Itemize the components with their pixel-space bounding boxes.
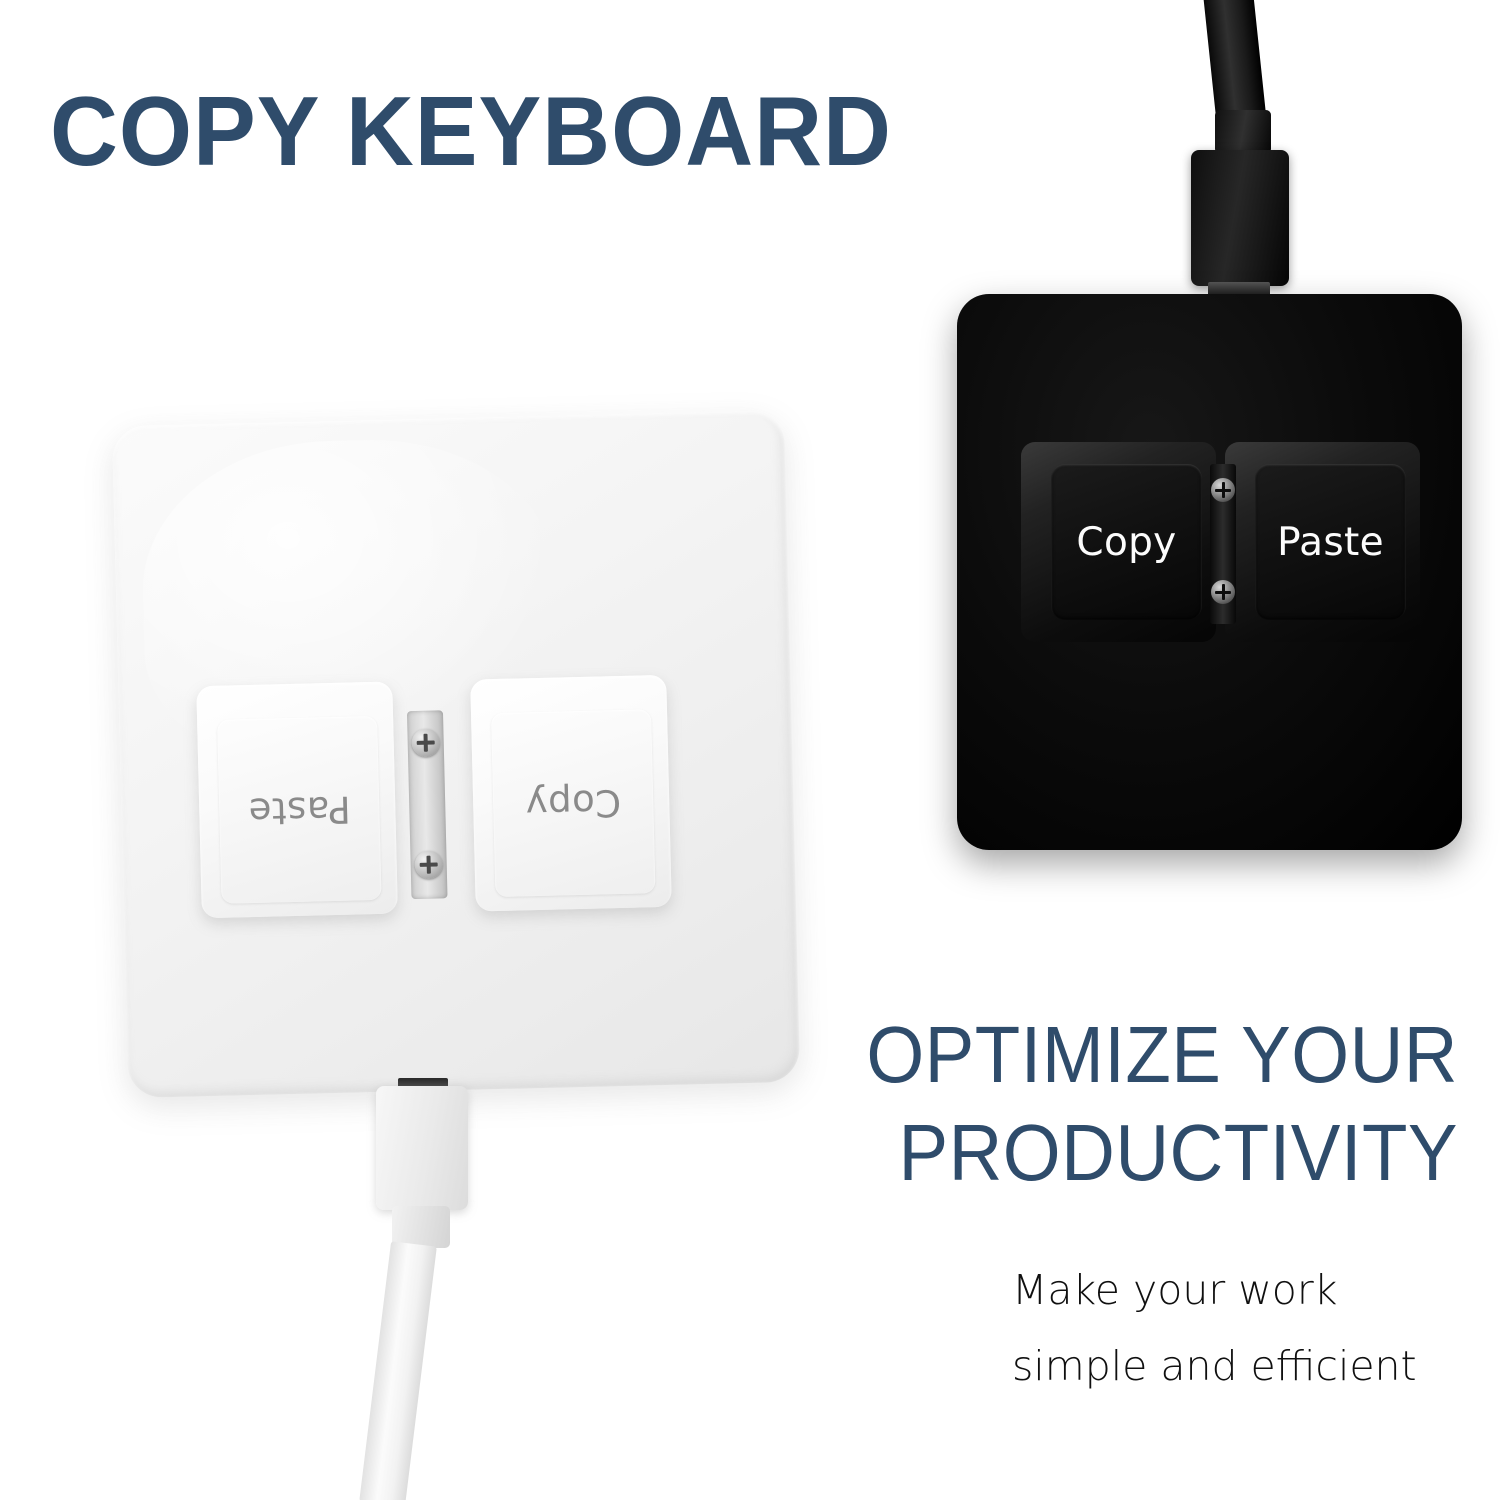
black-key-paste-label: Paste (1277, 520, 1384, 565)
black-keypad-screw-channel (1210, 464, 1236, 624)
white-usb-connector (376, 1086, 468, 1210)
subtext: Make your work simple and efficient (1012, 1253, 1417, 1405)
subtext-line-2: simple and efficient (1012, 1329, 1417, 1405)
headline-line-1: OPTIMIZE YOUR (621, 1006, 1458, 1104)
black-cable-strain-relief (1215, 110, 1271, 154)
black-usb-connector (1191, 150, 1289, 286)
black-cable (1203, 0, 1266, 119)
screw-icon (414, 850, 443, 879)
page-title: COPY KEYBOARD (50, 82, 892, 180)
screw-icon (411, 728, 440, 757)
product-marketing-image: COPY KEYBOARD Paste Copy (0, 0, 1500, 1500)
black-key-copy-top: Copy (1051, 464, 1202, 620)
black-key-paste[interactable]: Paste (1225, 442, 1420, 642)
white-key-copy-label: Copy (525, 780, 622, 825)
screw-icon (1211, 478, 1235, 502)
white-keypad-screw-channel (407, 710, 448, 899)
black-keypad: Copy Paste (957, 294, 1462, 850)
screw-icon (1211, 580, 1235, 604)
white-keypad: Paste Copy (112, 410, 800, 1098)
white-key-paste-top: Paste (217, 716, 381, 904)
headline-line-2: PRODUCTIVITY (621, 1104, 1458, 1202)
white-key-paste-label: Paste (248, 787, 351, 832)
black-key-paste-top: Paste (1255, 464, 1406, 620)
black-key-copy[interactable]: Copy (1021, 442, 1216, 642)
white-key-copy-top: Copy (491, 709, 655, 897)
subtext-line-1: Make your work (1012, 1253, 1417, 1329)
white-key-paste[interactable]: Paste (196, 682, 398, 919)
white-cable (359, 1241, 437, 1500)
headline: OPTIMIZE YOUR PRODUCTIVITY (558, 1006, 1458, 1201)
black-key-copy-label: Copy (1076, 520, 1176, 565)
white-key-copy[interactable]: Copy (470, 675, 672, 912)
